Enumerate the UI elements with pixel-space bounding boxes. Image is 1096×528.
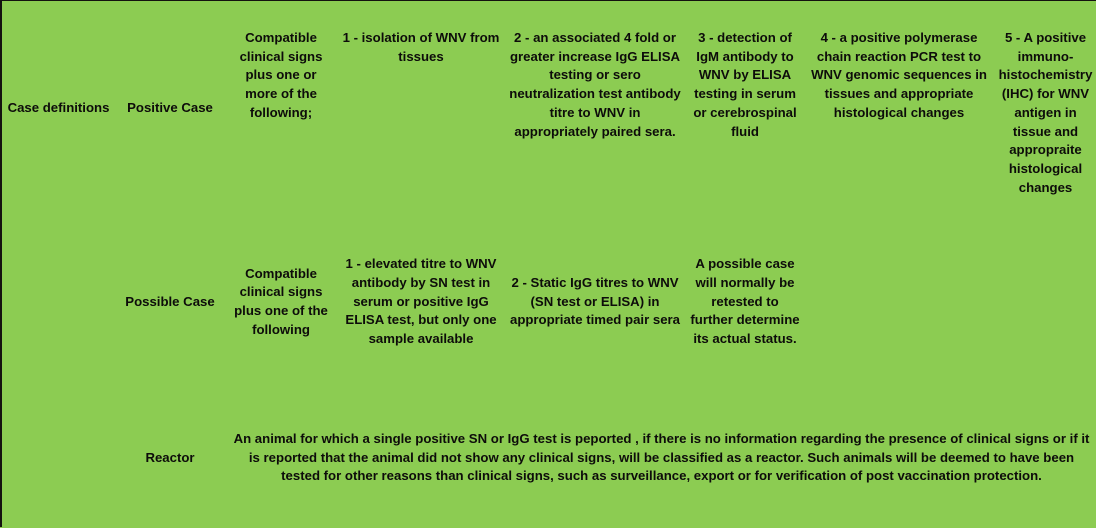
criterion-positive-4: 4 - a positive polymerase chain reaction… [805, 1, 993, 216]
table-row-header: Case definitions [2, 1, 115, 216]
qualifier-positive: Compatible clinical signs plus one or mo… [225, 1, 337, 216]
criterion-positive-2: 2 - an associated 4 fold or greater incr… [505, 1, 685, 216]
criterion-possible-2: 2 - Static IgG titres to WNV (SN test or… [505, 216, 685, 388]
criterion-possible-4 [805, 216, 993, 388]
criterion-positive-3: 3 - detection of IgM antibody to WNV by … [685, 1, 805, 216]
criterion-positive-1: 1 - isolation of WNV from tissues [337, 1, 505, 216]
table-row-reactor: Reactor An animal for which a single pos… [2, 388, 1096, 528]
possible-case-retest-note: A possible case will normally be reteste… [685, 216, 805, 388]
criterion-possible-1: 1 - elevated titre to WNV antibody by SN… [337, 216, 505, 388]
case-definitions-figure: Case definitions Positive Case Compatibl… [0, 0, 1096, 527]
criterion-possible-5 [993, 216, 1096, 388]
spacer-cell [2, 388, 115, 528]
table-row-positive-case: Case definitions Positive Case Compatibl… [2, 1, 1096, 216]
reactor-description: An animal for which a single positive SN… [225, 388, 1096, 528]
case-label-positive: Positive Case [115, 1, 225, 216]
qualifier-possible: Compatible clinical signs plus one of th… [225, 216, 337, 388]
criterion-positive-5: 5 - A positive immuno-histochemistry (IH… [993, 1, 1096, 216]
case-label-possible: Possible Case [115, 216, 225, 388]
table-row-possible-case: Possible Case Compatible clinical signs … [2, 216, 1096, 388]
case-definitions-table: Case definitions Positive Case Compatibl… [2, 1, 1096, 528]
case-label-reactor: Reactor [115, 388, 225, 528]
spacer-cell [2, 216, 115, 388]
